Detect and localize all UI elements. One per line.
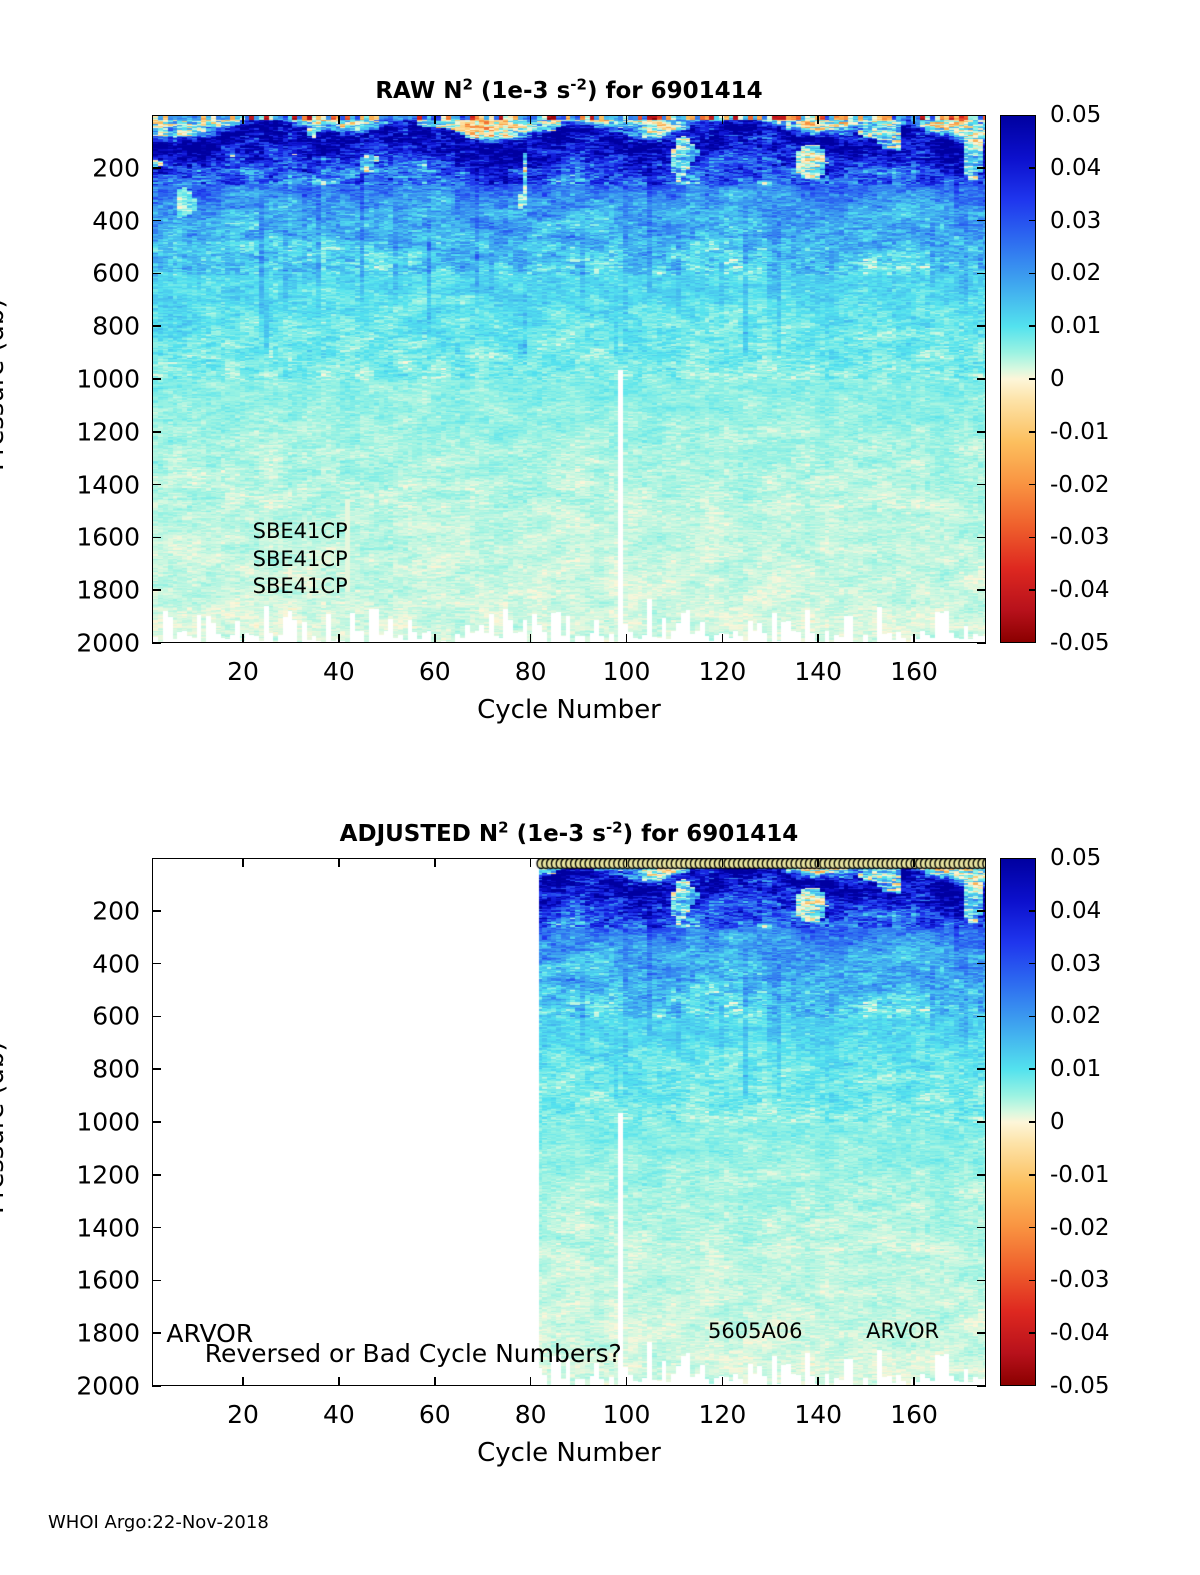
x-tick-top-adj-100 xyxy=(626,858,628,867)
x-tick-adj-140 xyxy=(817,1377,819,1386)
colorbar-tick-adj-6 xyxy=(1029,1174,1036,1176)
colorbar-tick-adj-5 xyxy=(1029,1121,1036,1123)
y-tick-adj-1800 xyxy=(152,1332,161,1334)
y-tick-adj-600 xyxy=(152,1016,161,1018)
x-tick-top-adj-160 xyxy=(913,858,915,867)
y-tick-right-adj-1000 xyxy=(977,1121,986,1123)
colorbar-label-adj-7: -0.02 xyxy=(1050,1215,1110,1241)
x-tick-adj-20 xyxy=(242,1377,244,1386)
y-tick-adj-800 xyxy=(152,1068,161,1070)
colorbar-label-adj-2: 0.03 xyxy=(1050,951,1101,977)
x-tick-adj-80 xyxy=(530,1377,532,1386)
x-tick-label-adj-60: 60 xyxy=(419,1400,451,1429)
y-tick-right-adj-1600 xyxy=(977,1280,986,1282)
x-tick-adj-60 xyxy=(434,1377,436,1386)
colorbar-tick-adj-7 xyxy=(1029,1227,1036,1229)
x-tick-label-adj-80: 80 xyxy=(515,1400,547,1429)
y-tick-right-adj-400 xyxy=(977,963,986,965)
y-tick-right-adj-2000 xyxy=(977,1385,986,1387)
colorbar-label-adj-9: -0.04 xyxy=(1050,1320,1110,1346)
adjusted-y-axis-label: Pressure (db) xyxy=(0,1041,10,1214)
y-tick-label-adj-600: 600 xyxy=(20,1002,140,1031)
y-tick-label-adj-1600: 1600 xyxy=(20,1266,140,1295)
y-tick-adj-400 xyxy=(152,963,161,965)
y-tick-adj-1600 xyxy=(152,1280,161,1282)
colorbar-tick-adj-4 xyxy=(1029,1068,1036,1070)
x-tick-top-adj-20 xyxy=(242,858,244,867)
x-tick-label-adj-20: 20 xyxy=(227,1400,259,1429)
y-tick-label-adj-1800: 1800 xyxy=(20,1319,140,1348)
y-tick-adj-1200 xyxy=(152,1174,161,1176)
y-tick-adj-2000 xyxy=(152,1385,161,1387)
x-tick-top-adj-40 xyxy=(338,858,340,867)
colorbar-label-adj-5: 0 xyxy=(1050,1109,1065,1135)
y-tick-right-adj-600 xyxy=(977,1016,986,1018)
x-tick-top-adj-60 xyxy=(434,858,436,867)
y-tick-right-adj-1800 xyxy=(977,1332,986,1334)
colorbar-label-adj-0: 0.05 xyxy=(1050,845,1101,871)
annotation-adj-1: Reversed or Bad Cycle Numbers? xyxy=(205,1339,622,1368)
y-tick-adj-1000 xyxy=(152,1121,161,1123)
colorbar-tick-adj-8 xyxy=(1029,1280,1036,1282)
y-tick-right-adj-1400 xyxy=(977,1227,986,1229)
x-tick-label-adj-160: 160 xyxy=(890,1400,938,1429)
x-tick-adj-40 xyxy=(338,1377,340,1386)
annotation-adj-2: 5605A06 xyxy=(708,1319,803,1343)
panel-adjusted-n2: ADJUSTED N2 (1e-3 s-2) for 6901414 20040… xyxy=(0,0,1200,1575)
adjusted-top-marker-row xyxy=(153,859,986,1386)
y-tick-label-adj-200: 200 xyxy=(20,896,140,925)
colorbar-label-adj-6: -0.01 xyxy=(1050,1162,1110,1188)
y-tick-adj-1400 xyxy=(152,1227,161,1229)
x-tick-top-adj-120 xyxy=(722,858,724,867)
colorbar-label-adj-3: 0.02 xyxy=(1050,1003,1101,1029)
y-tick-right-adj-200 xyxy=(977,910,986,912)
x-tick-label-adj-140: 140 xyxy=(794,1400,842,1429)
y-tick-adj-200 xyxy=(152,910,161,912)
colorbar-label-adj-8: -0.03 xyxy=(1050,1267,1110,1293)
annotation-adj-3: ARVOR xyxy=(866,1319,939,1343)
y-tick-label-adj-800: 800 xyxy=(20,1055,140,1084)
x-tick-adj-120 xyxy=(722,1377,724,1386)
x-tick-label-adj-100: 100 xyxy=(603,1400,651,1429)
y-tick-label-adj-2000: 2000 xyxy=(20,1372,140,1401)
y-tick-right-adj-1200 xyxy=(977,1174,986,1176)
colorbar-tick-adj-2 xyxy=(1029,963,1036,965)
y-tick-label-adj-1200: 1200 xyxy=(20,1160,140,1189)
colorbar-tick-adj-9 xyxy=(1029,1332,1036,1334)
x-tick-label-adj-120: 120 xyxy=(699,1400,747,1429)
panel-adjusted-title: ADJUSTED N2 (1e-3 s-2) for 6901414 xyxy=(152,821,986,847)
adjusted-heatmap-axes xyxy=(152,858,986,1386)
x-tick-top-adj-80 xyxy=(530,858,532,867)
footer-credit: WHOI Argo:22-Nov-2018 xyxy=(48,1512,269,1533)
x-tick-label-adj-40: 40 xyxy=(323,1400,355,1429)
x-tick-adj-160 xyxy=(913,1377,915,1386)
y-tick-label-adj-1000: 1000 xyxy=(20,1108,140,1137)
x-tick-top-adj-140 xyxy=(817,858,819,867)
colorbar-label-adj-10: -0.05 xyxy=(1050,1373,1110,1399)
colorbar-tick-adj-1 xyxy=(1029,910,1036,912)
y-tick-right-adj-800 xyxy=(977,1068,986,1070)
colorbar-label-adj-4: 0.01 xyxy=(1050,1056,1101,1082)
colorbar-tick-adj-3 xyxy=(1029,1016,1036,1018)
colorbar-label-adj-1: 0.04 xyxy=(1050,898,1101,924)
adjusted-x-axis-label: Cycle Number xyxy=(152,1438,986,1468)
y-tick-label-adj-1400: 1400 xyxy=(20,1213,140,1242)
y-tick-label-adj-400: 400 xyxy=(20,949,140,978)
figure-root: RAW N2 (1e-3 s-2) for 6901414 2004006008… xyxy=(0,0,1200,1575)
x-tick-adj-100 xyxy=(626,1377,628,1386)
